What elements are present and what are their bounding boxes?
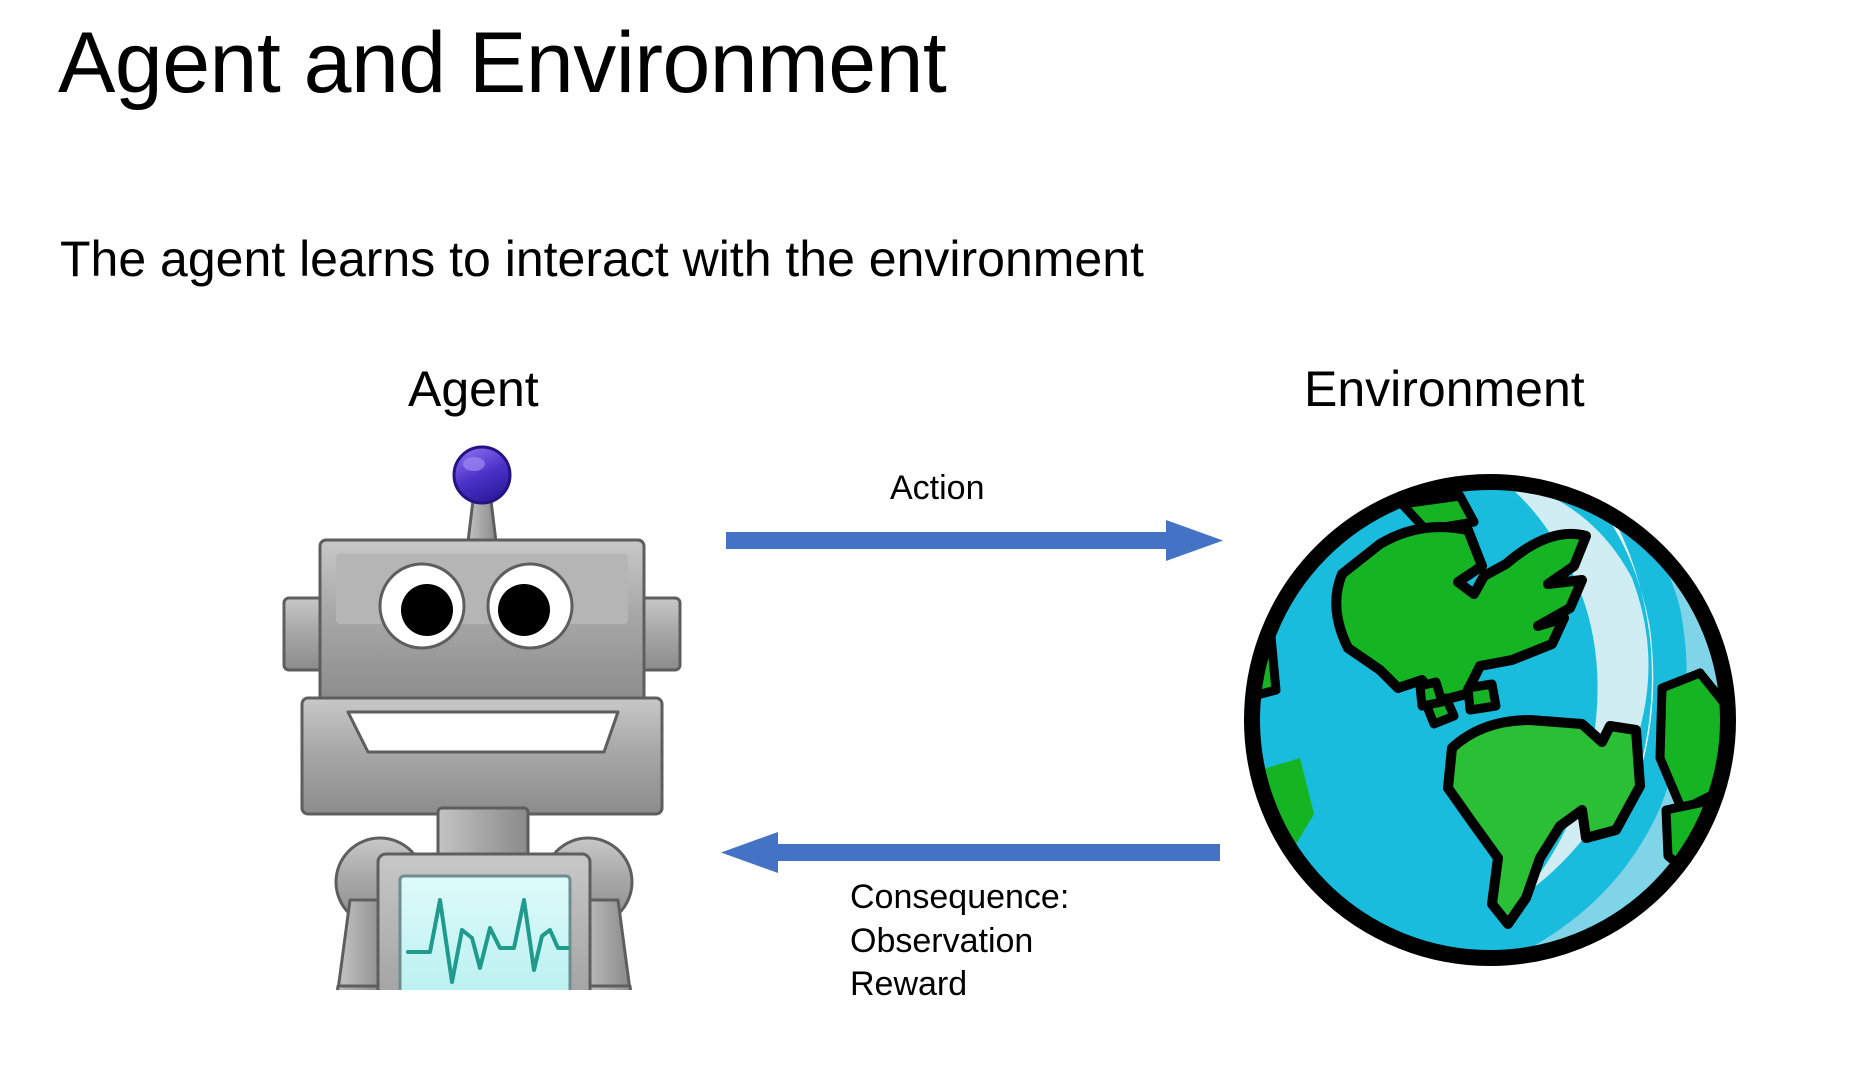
environment-label: Environment xyxy=(1304,362,1585,417)
slide-subtitle: The agent learns to interact with the en… xyxy=(60,232,1144,287)
page-title: Agent and Environment xyxy=(58,18,946,108)
consequence-arrow-icon xyxy=(710,830,1220,876)
consequence-observation: Observation xyxy=(850,920,1069,964)
globe-icon xyxy=(1230,458,1750,982)
robot-icon xyxy=(262,430,702,990)
consequence-title: Consequence: xyxy=(850,876,1069,920)
action-arrow-icon xyxy=(726,518,1226,564)
consequence-label-group: Consequence: Observation Reward xyxy=(850,876,1069,1007)
agent-label: Agent xyxy=(408,362,539,417)
slide-canvas: Agent and Environment The agent learns t… xyxy=(0,0,1872,1080)
consequence-reward: Reward xyxy=(850,963,1069,1007)
action-label: Action xyxy=(890,470,985,507)
